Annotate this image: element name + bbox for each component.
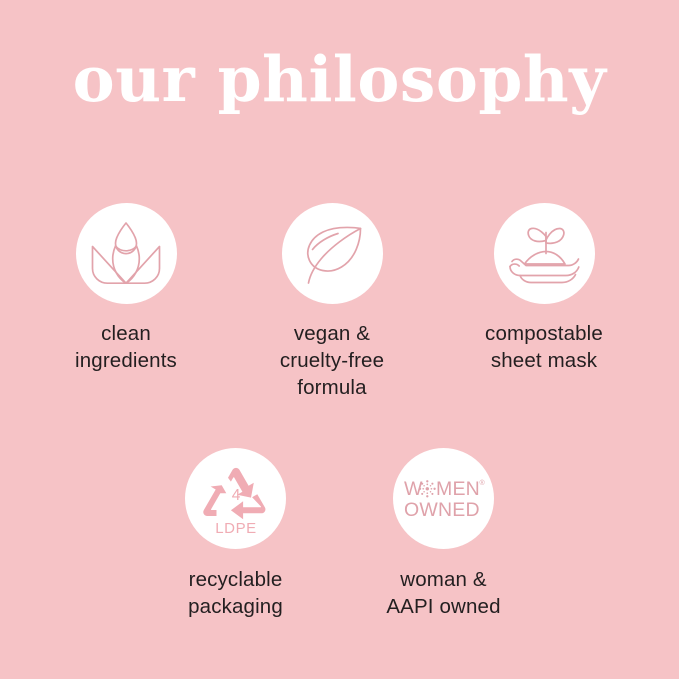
hand-sprout-icon xyxy=(506,223,582,285)
resin-number-text: 4 xyxy=(231,487,240,504)
lotus-droplet-icon xyxy=(87,218,165,290)
women-owned-owned-text: OWNED xyxy=(404,499,480,521)
badge-row-bottom: 4 LDPE recyclable packaging W MEN xyxy=(0,448,679,620)
badge-caption: vegan & cruelty-free formula xyxy=(280,320,384,401)
badge-vegan-cruelty-free: vegan & cruelty-free formula xyxy=(229,203,435,401)
women-owned-badge-icon: W MEN ® OWNED xyxy=(401,476,487,522)
badge-caption: recyclable packaging xyxy=(188,566,283,620)
philosophy-infographic: our philosophy cle xyxy=(0,0,679,679)
icon-circle xyxy=(282,203,383,304)
badge-clean-ingredients: clean ingredients xyxy=(23,203,229,374)
resin-name-text: LDPE xyxy=(215,520,257,535)
icon-circle xyxy=(494,203,595,304)
badge-woman-aapi-owned: W MEN ® OWNED xyxy=(340,448,548,620)
registered-trademark-icon: ® xyxy=(479,479,485,487)
recycling-ldpe-icon: 4 LDPE xyxy=(201,463,271,535)
icon-circle: 4 LDPE xyxy=(185,448,286,549)
icon-circle xyxy=(76,203,177,304)
icon-circle: W MEN ® OWNED xyxy=(393,448,494,549)
badge-caption: clean ingredients xyxy=(75,320,177,374)
badge-compostable-sheet-mask: compostable sheet mask xyxy=(441,203,647,374)
page-title: our philosophy xyxy=(0,48,679,111)
badge-row-top: clean ingredients vegan & cruelty-free f… xyxy=(0,203,679,401)
leaf-icon xyxy=(297,221,367,287)
women-owned-men-text: MEN xyxy=(436,478,480,500)
badge-caption: compostable sheet mask xyxy=(485,320,603,374)
badge-caption: woman & AAPI owned xyxy=(386,566,500,620)
badge-recyclable-packaging: 4 LDPE recyclable packaging xyxy=(132,448,340,620)
